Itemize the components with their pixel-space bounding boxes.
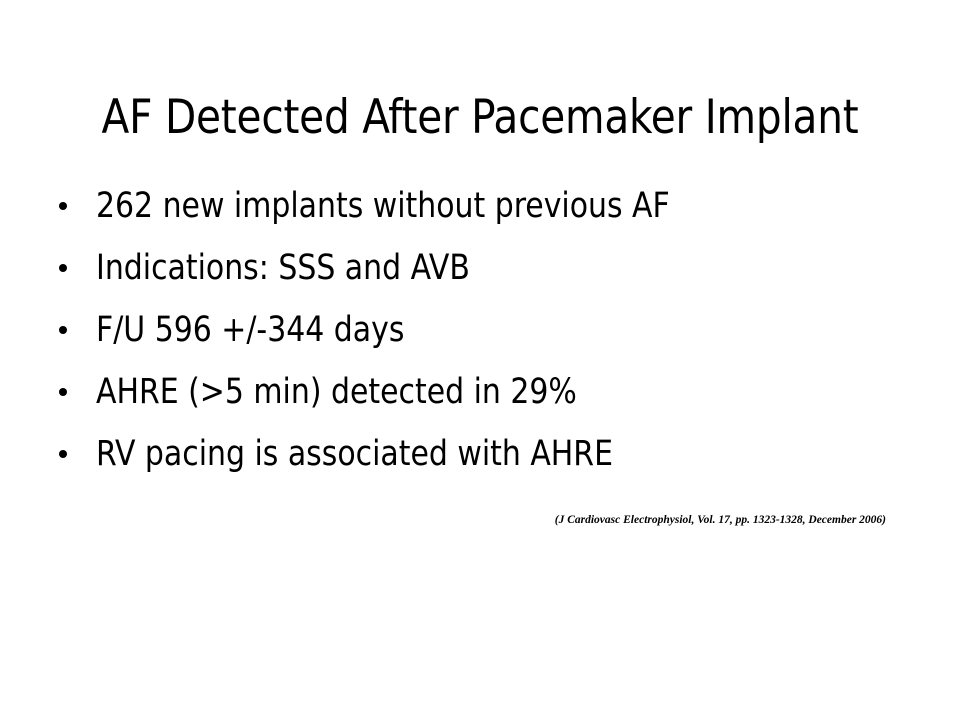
page-title: AF Detected After Pacemaker Implant [19, 89, 941, 147]
bullet-dot-icon [59, 264, 67, 272]
bullet-text: Indications: SSS and AVB [96, 249, 470, 287]
bullet-text: RV pacing is associated with AHRE [96, 435, 613, 473]
bullet-dot-icon [59, 450, 67, 458]
list-item: AHRE (>5 min) detected in 29% [52, 361, 912, 423]
bullet-dot-icon [59, 388, 67, 396]
bullet-text: 262 new implants without previous AF [96, 187, 670, 225]
presentation-slide: AF Detected After Pacemaker Implant 262 … [0, 0, 960, 720]
bullet-dot-icon [59, 202, 67, 210]
list-item: F/U 596 +/-344 days [52, 299, 912, 361]
list-item: Indications: SSS and AVB [52, 237, 912, 299]
bullet-text: AHRE (>5 min) detected in 29% [96, 373, 577, 411]
bullet-dot-icon [59, 326, 67, 334]
source-citation: (J Cardiovasc Electrophysiol, Vol. 17, p… [0, 512, 886, 528]
list-item: RV pacing is associated with AHRE [52, 423, 912, 485]
bullet-text: F/U 596 +/-344 days [96, 311, 404, 349]
bullet-list: 262 new implants without previous AF Ind… [52, 175, 912, 485]
list-item: 262 new implants without previous AF [52, 175, 912, 237]
